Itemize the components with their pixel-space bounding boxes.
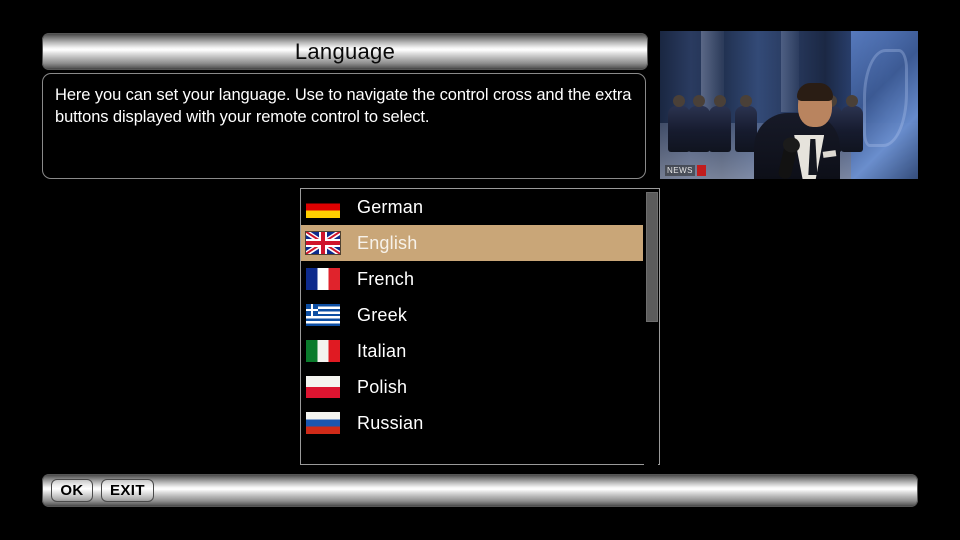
language-list: German English French Greek bbox=[301, 189, 643, 441]
flag-icon-french bbox=[306, 268, 340, 290]
scrollbar-thumb[interactable] bbox=[646, 192, 658, 322]
channel-logo-mark bbox=[697, 165, 706, 176]
video-crowd-person bbox=[668, 106, 690, 152]
ok-button[interactable]: OK bbox=[51, 479, 93, 502]
page-title-bar: Language bbox=[42, 33, 648, 70]
video-crowd-person bbox=[688, 106, 710, 152]
flag-icon-italian bbox=[306, 340, 340, 362]
list-item[interactable]: English bbox=[301, 225, 643, 261]
list-item[interactable]: Polish bbox=[301, 369, 643, 405]
list-item-label: Russian bbox=[357, 414, 423, 432]
list-item-label: Greek bbox=[357, 306, 407, 324]
exit-button-label: EXIT bbox=[110, 483, 145, 498]
channel-logo-text: NEWS bbox=[665, 165, 695, 176]
exit-button[interactable]: EXIT bbox=[101, 479, 154, 502]
video-pillar-center bbox=[781, 31, 799, 112]
list-item[interactable]: French bbox=[301, 261, 643, 297]
live-tv-preview[interactable]: NEWS bbox=[660, 31, 918, 179]
flag-icon-russian bbox=[306, 412, 340, 434]
flag-icon-polish bbox=[306, 376, 340, 398]
list-item[interactable]: Greek bbox=[301, 297, 643, 333]
description-box: Here you can set your language. Use to n… bbox=[42, 73, 646, 179]
list-item[interactable]: German bbox=[301, 189, 643, 225]
list-item-label: English bbox=[357, 234, 417, 252]
flag-icon-german bbox=[306, 196, 340, 218]
list-item-label: Italian bbox=[357, 342, 406, 360]
list-item-label: German bbox=[357, 198, 423, 216]
flag-icon-english bbox=[306, 232, 340, 254]
video-crowd-person bbox=[841, 106, 863, 152]
list-item-label: French bbox=[357, 270, 414, 288]
video-crowd-person bbox=[709, 106, 731, 152]
video-reporter-hair bbox=[797, 83, 833, 101]
page-title: Language bbox=[295, 41, 395, 63]
list-item-label: Polish bbox=[357, 378, 407, 396]
description-text: Here you can set your language. Use to n… bbox=[55, 84, 633, 128]
video-backdrop-panel bbox=[851, 31, 918, 179]
language-list-panel[interactable]: German English French Greek bbox=[300, 188, 660, 465]
softkey-bar: OK EXIT bbox=[42, 474, 918, 507]
channel-logo: NEWS bbox=[665, 165, 706, 176]
scrollbar-track[interactable] bbox=[644, 190, 658, 465]
ok-button-label: OK bbox=[60, 483, 83, 498]
tv-settings-screen: Language Here you can set your language.… bbox=[0, 0, 960, 540]
flag-icon-greek bbox=[306, 304, 340, 326]
list-item[interactable]: Russian bbox=[301, 405, 643, 441]
list-item[interactable]: Italian bbox=[301, 333, 643, 369]
